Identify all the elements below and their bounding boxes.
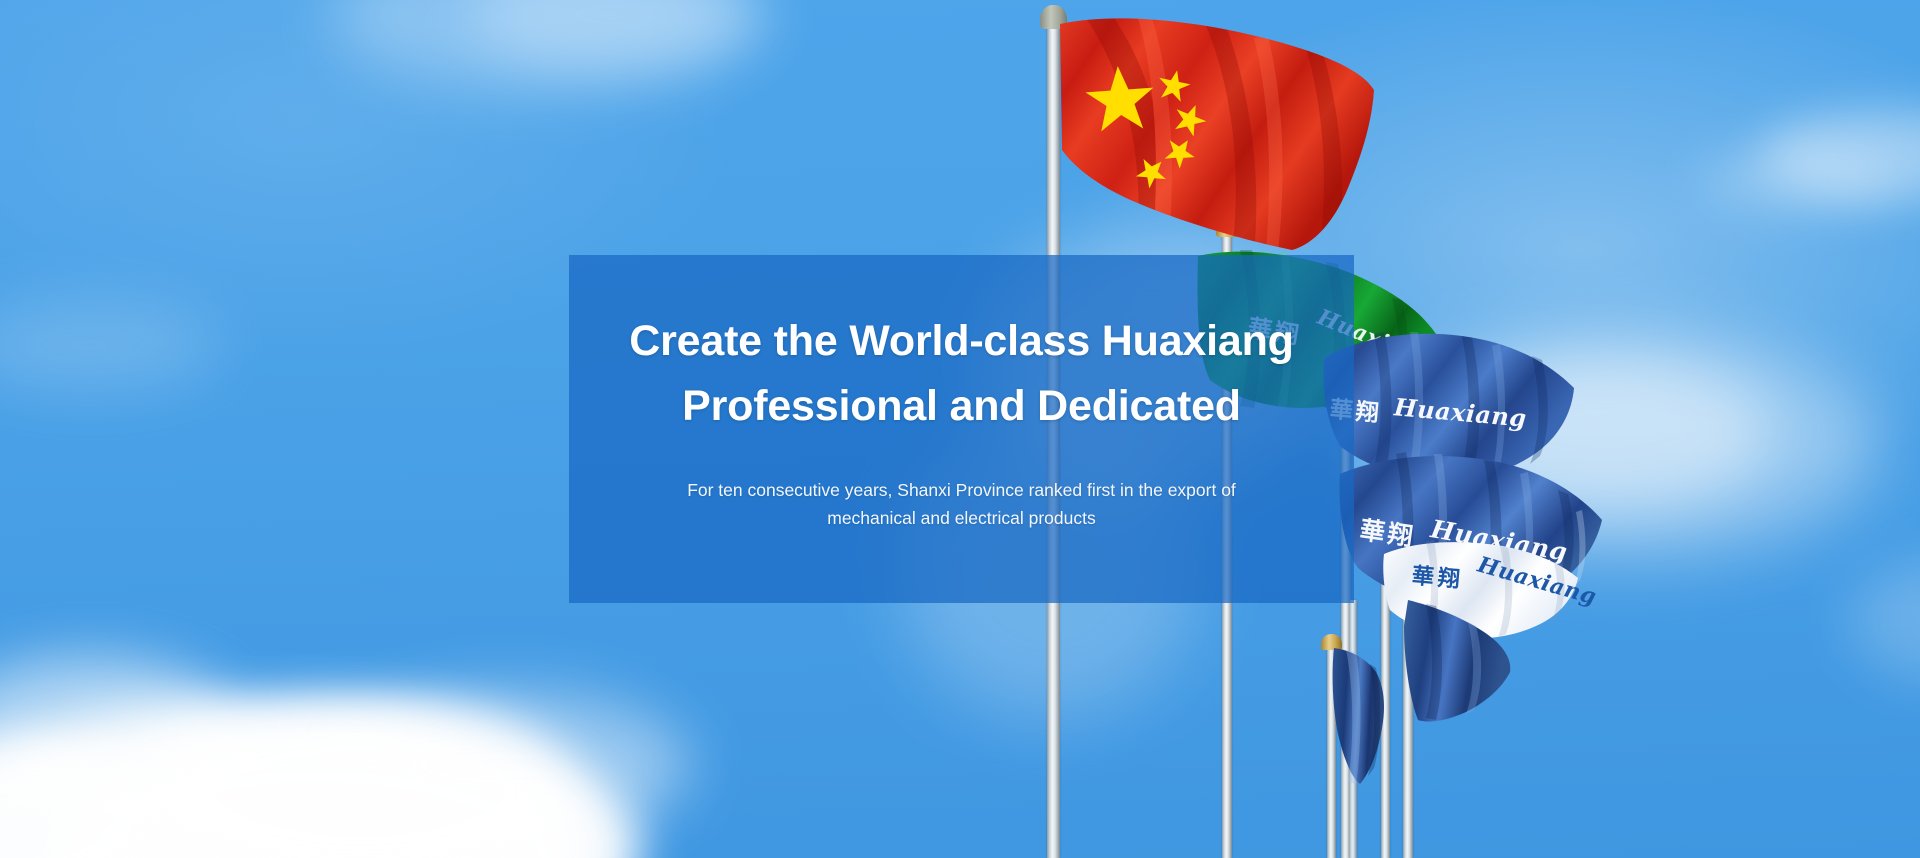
headline-line-2: Professional and Dedicated <box>569 374 1354 439</box>
headline-line-1: Create the World-class Huaxiang <box>569 309 1354 374</box>
hero-text-overlay: Create the World-class Huaxiang Professi… <box>569 255 1354 603</box>
huaxiang-furled-b-icon <box>1330 648 1394 788</box>
cloud-top-right-b <box>1700 150 1900 210</box>
cloud-bottom-left-e <box>330 690 690 840</box>
page-subtitle: For ten consecutive years, Shanxi Provin… <box>642 476 1282 533</box>
huaxiang-furled-a-icon <box>1398 600 1518 730</box>
flag-huaxiang-furled-b <box>1330 648 1394 788</box>
china-flag-icon <box>1056 18 1378 254</box>
hero-banner: 華翔 Huaxiang <box>0 0 1920 858</box>
flag-china-national <box>1056 18 1378 254</box>
subtitle-line-1: For ten consecutive years, Shanxi Provin… <box>642 476 1282 504</box>
subtitle-line-2: mechanical and electrical products <box>642 504 1282 532</box>
page-title: Create the World-class Huaxiang Professi… <box>569 309 1354 440</box>
flag-huaxiang-furled-a <box>1398 600 1518 730</box>
